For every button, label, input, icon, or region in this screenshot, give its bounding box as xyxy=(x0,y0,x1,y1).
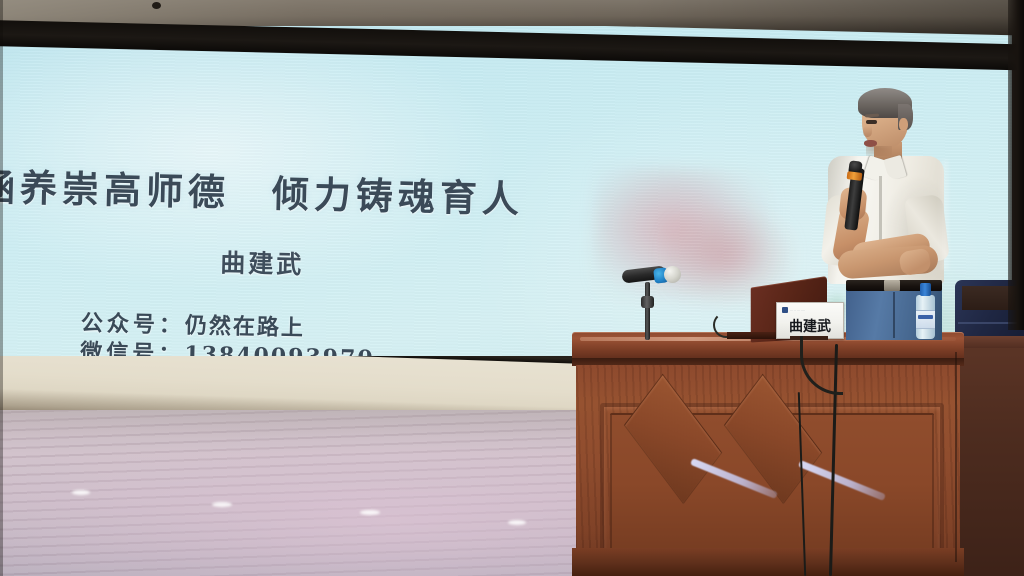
contact-label-wechat: 微信号： xyxy=(80,339,185,356)
floor-light-reflection xyxy=(360,510,380,515)
slide-contact-block: 公众号：仍然在路上 微信号：13840093970 xyxy=(80,309,376,356)
floor-light-reflection xyxy=(508,520,526,525)
speaker-eye xyxy=(866,120,877,124)
microphone-stand xyxy=(645,282,650,340)
image-left-edge xyxy=(0,0,3,576)
contact-value-wechat: 13840093970 xyxy=(184,342,375,356)
podium-base xyxy=(572,548,964,576)
speaker-rim-light xyxy=(938,160,948,270)
speaker-ear xyxy=(899,118,908,131)
bottle-label-bar xyxy=(918,315,933,319)
screen-right-frame xyxy=(1008,0,1024,330)
microphone-windscreen xyxy=(664,266,681,283)
bottle-cap xyxy=(920,283,931,296)
side-desk-edge xyxy=(955,352,957,562)
floor-light-reflection xyxy=(212,502,232,507)
podium xyxy=(572,330,964,576)
speaker-belt-buckle xyxy=(884,280,900,291)
microphone-stand-joint xyxy=(641,296,654,308)
nameplate-logo: ····· ······· xyxy=(782,307,805,313)
speaker-nose xyxy=(863,126,872,137)
nameplate-name: 曲建武 xyxy=(777,316,843,336)
floor-light-reflection xyxy=(72,490,90,495)
handheld-microphone-band xyxy=(847,171,863,181)
speaker-chin-shadow xyxy=(866,146,892,156)
contact-label-public-account: 公众号： xyxy=(81,310,186,338)
institution-wordmark: ····· ······· xyxy=(790,308,805,312)
bottle-label xyxy=(916,310,935,329)
lecture-hall-scene: 涵养崇高师德 倾力铸魂育人 曲建武 公众号：仍然在路上 微信号：13840093… xyxy=(0,0,1024,576)
podium-front-panel xyxy=(576,365,960,576)
slide-author: 曲建武 xyxy=(220,243,305,281)
speaker-nameplate: ····· ······· 曲建武 xyxy=(776,302,844,339)
speaker-jeans-seam xyxy=(893,292,895,338)
water-bottle xyxy=(916,283,935,339)
slide-title: 涵养崇高师德 倾力铸魂育人 xyxy=(0,157,659,226)
ceiling-fixture-icon xyxy=(152,2,161,9)
institution-mark-icon xyxy=(782,307,788,313)
contact-value-public-account: 仍然在路上 xyxy=(185,313,306,342)
